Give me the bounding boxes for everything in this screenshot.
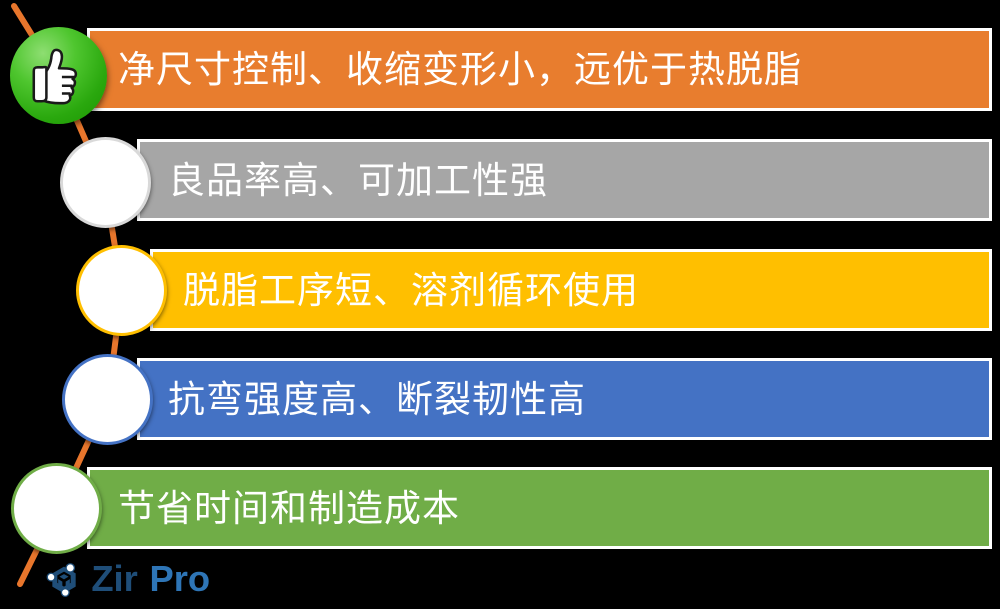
slide-canvas: 净尺寸控制、收缩变形小，远优于热脱脂 良品率高、可加工性强 脱脂工序短、溶剂循环… (0, 0, 1000, 609)
benefit-bar-strength-toughness[interactable]: 抗弯强度高、断裂韧性高 (137, 358, 992, 440)
benefit-label: 脱脂工序短、溶剂循环使用 (183, 272, 639, 309)
thumbs-up-icon (27, 45, 89, 107)
benefit-label: 抗弯强度高、断裂韧性高 (168, 381, 586, 418)
svg-text:Zir: Zir (91, 560, 137, 599)
benefit-bar-save-time-cost[interactable]: 节省时间和制造成本 (87, 467, 992, 549)
molecule-hexagon-icon (44, 560, 84, 600)
benefit-bar-yield-rate[interactable]: 良品率高、可加工性强 (137, 139, 992, 221)
benefit-bar-debinding-process[interactable]: 脱脂工序短、溶剂循环使用 (150, 249, 992, 331)
benefit-label: 净尺寸控制、收缩变形小，远优于热脱脂 (118, 51, 802, 88)
benefit-node-thumbs-up[interactable] (10, 27, 107, 124)
benefit-node-strength-toughness[interactable] (62, 354, 153, 445)
zirpro-wordmark: Zir Pro (91, 560, 228, 600)
benefit-node-save-time-cost[interactable] (11, 463, 102, 554)
benefit-node-debinding-process[interactable] (76, 245, 167, 336)
benefit-label: 节省时间和制造成本 (118, 490, 460, 527)
zirpro-logo[interactable]: Zir Pro (44, 560, 228, 600)
svg-text:Pro: Pro (150, 560, 211, 599)
benefit-bar-net-dimension[interactable]: 净尺寸控制、收缩变形小，远优于热脱脂 (87, 28, 992, 111)
benefit-node-yield-rate[interactable] (60, 137, 151, 228)
benefit-label: 良品率高、可加工性强 (168, 162, 548, 199)
